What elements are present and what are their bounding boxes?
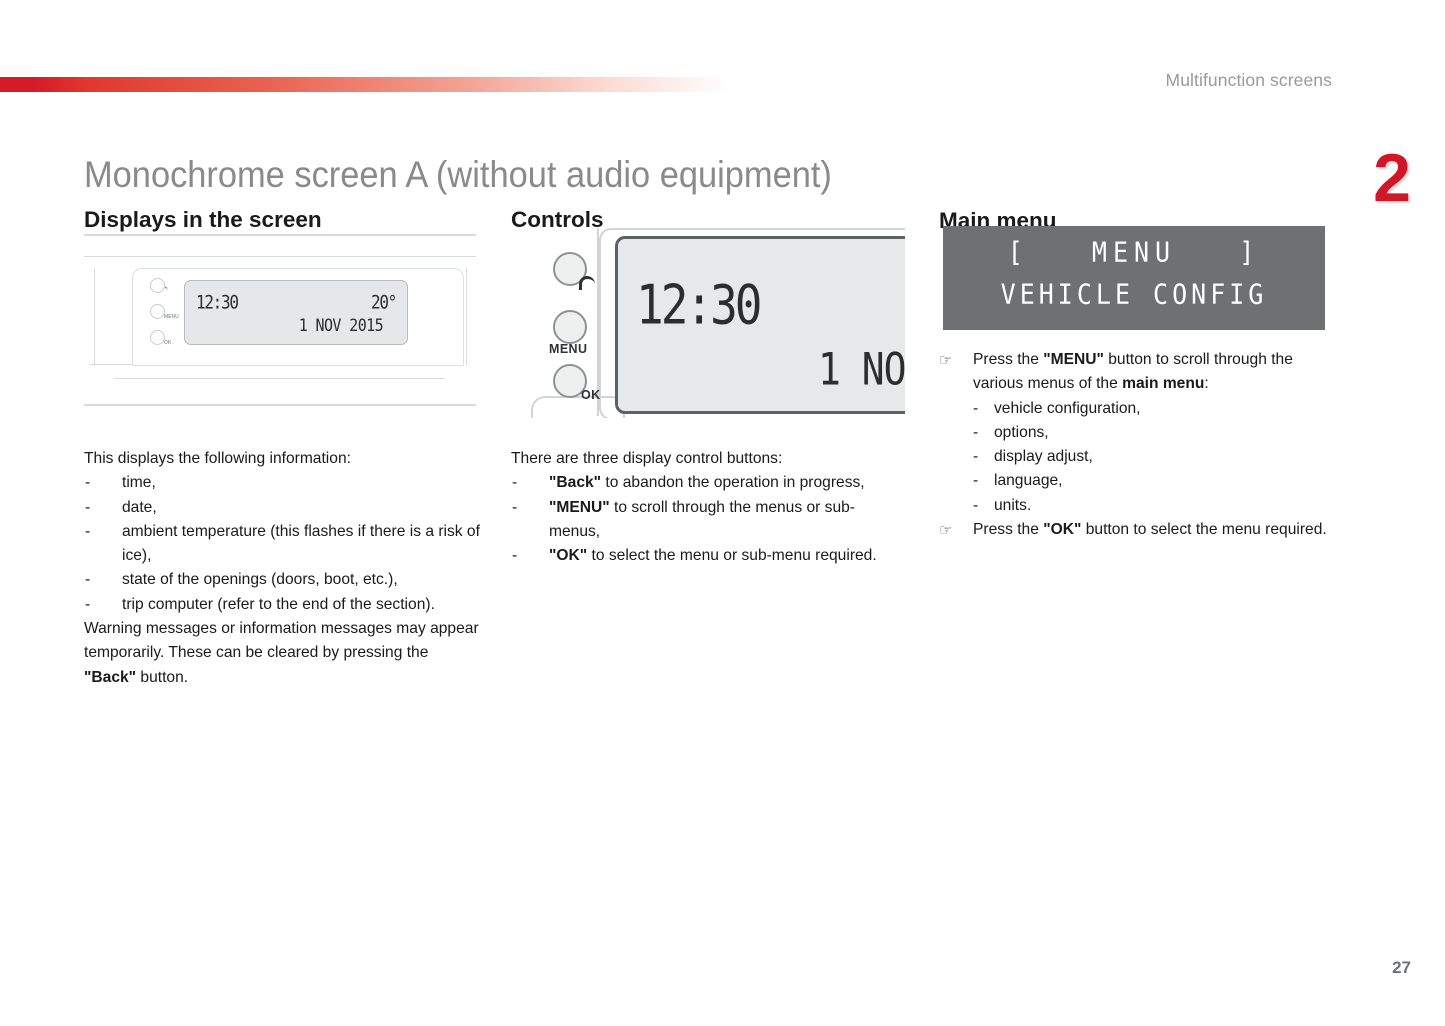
lcd-time: 12:30 <box>196 291 238 313</box>
lcd-time: 12:30 <box>636 273 759 337</box>
dash-marker: - <box>85 568 90 592</box>
menu-button[interactable] <box>150 304 165 319</box>
header-accent-bar <box>0 77 730 92</box>
dash-marker: - <box>85 471 90 495</box>
displays-body-text: This displays the following information:… <box>84 447 484 690</box>
ok-button-label: OK <box>164 340 172 346</box>
step-text-prefix: Press the <box>973 351 1043 368</box>
lcd-date-partial: 1 NO <box>818 343 905 395</box>
list-item: -"MENU" to scroll through the menus or s… <box>511 496 906 545</box>
step-bold-ok: "OK" <box>1043 521 1081 538</box>
dash-marker: - <box>85 593 90 617</box>
displays-intro: This displays the following information: <box>84 447 484 471</box>
list-item: -"OK" to select the menu or sub-menu req… <box>511 544 906 568</box>
controls-item-list: -"Back" to abandon the operation in prog… <box>511 471 906 568</box>
list-item: -vehicle configuration, <box>973 397 1339 421</box>
lcd-date: 1 NOV 2015 <box>299 315 383 336</box>
note-text-before: Warning messages or information messages… <box>84 620 479 661</box>
main-menu-step-list-2: ☞ Press the "OK" button to select the me… <box>939 518 1339 542</box>
list-item-bold: "MENU" <box>549 499 610 516</box>
list-item-label: display adjust, <box>994 448 1093 465</box>
main-menu-lcd-line2: VEHICLE CONFIG <box>943 278 1325 310</box>
pointing-hand-icon: ☞ <box>939 349 952 373</box>
step-text-suffix: : <box>1204 375 1208 392</box>
list-item: -language, <box>973 469 1339 493</box>
back-arrow-icon <box>579 276 595 290</box>
step-bold-menu: "MENU" <box>1043 351 1104 368</box>
menu-button-label: MENU <box>164 314 179 320</box>
list-item: -trip computer (refer to the end of the … <box>84 593 484 617</box>
dash-marker: - <box>973 397 978 421</box>
list-item: -options, <box>973 421 1339 445</box>
page-title: Monochrome screen A (without audio equip… <box>84 153 832 197</box>
figure-dashboard: ↰ MENU OK 12:30 20° 1 NOV 2015 <box>84 228 478 424</box>
dashboard-lcd-screen: 12:30 20° 1 NOV 2015 <box>184 280 408 345</box>
dash-marker: - <box>85 520 90 544</box>
list-item-label: time, <box>122 474 156 491</box>
ok-button-label: OK <box>581 388 601 402</box>
dash-marker: - <box>973 469 978 493</box>
list-item-label: ambient temperature (this flashes if the… <box>122 523 480 564</box>
list-item-label: date, <box>122 499 157 516</box>
pointing-hand-icon: ☞ <box>939 519 952 543</box>
note-back-label: "Back" <box>84 669 136 686</box>
dashboard-button-group: ↰ MENU OK <box>148 278 184 364</box>
dash-marker: - <box>512 544 517 568</box>
dash-marker: - <box>973 494 978 518</box>
controls-body-text: There are three display control buttons:… <box>511 447 906 568</box>
menu-button-label: MENU <box>549 342 587 356</box>
header-title: Multifunction screens <box>1166 70 1332 91</box>
dash-marker: - <box>85 496 90 520</box>
step-bold-main-menu: main menu <box>1122 375 1204 392</box>
list-item: ☞ Press the "MENU" button to scroll thro… <box>939 348 1339 397</box>
note-text-after: button. <box>136 669 188 686</box>
dash-marker: - <box>973 445 978 469</box>
list-item: -units. <box>973 494 1339 518</box>
list-item: -state of the openings (doors, boot, etc… <box>84 568 484 592</box>
main-menu-sub-list: -vehicle configuration, -options, -displ… <box>939 397 1339 518</box>
figure-controls: MENU OK 12:30 1 NO <box>511 228 905 418</box>
step-text-prefix: Press the <box>973 521 1043 538</box>
list-item-label: to select the menu or sub-menu required. <box>587 547 877 564</box>
step-text-middle: button to select the menu required. <box>1081 521 1326 538</box>
list-item: -date, <box>84 496 484 520</box>
list-item: -display adjust, <box>973 445 1339 469</box>
controls-intro: There are three display control buttons: <box>511 447 906 471</box>
list-item-label: to abandon the operation in progress, <box>601 474 865 491</box>
back-button-label: ↰ <box>164 286 168 292</box>
list-item-label: language, <box>994 472 1063 489</box>
main-menu-body-text: ☞ Press the "MENU" button to scroll thro… <box>939 348 1339 542</box>
dash-marker: - <box>512 496 517 520</box>
dash-marker: - <box>512 471 517 495</box>
figure-main-menu-lcd: [ MENU ] VEHICLE CONFIG <box>943 226 1325 330</box>
back-button[interactable] <box>150 278 165 293</box>
page-number: 27 <box>1392 958 1411 978</box>
dash-marker: - <box>973 421 978 445</box>
list-item: -time, <box>84 471 484 495</box>
lcd-temperature: 20° <box>371 291 396 313</box>
list-item-bold: "OK" <box>549 547 587 564</box>
main-menu-lcd-line1: [ MENU ] <box>943 236 1325 268</box>
menu-button[interactable] <box>553 310 587 344</box>
main-menu-step-list: ☞ Press the "MENU" button to scroll thro… <box>939 348 1339 397</box>
control-lcd-screen: 12:30 1 NO <box>615 236 905 414</box>
list-item: -ambient temperature (this flashes if th… <box>84 520 484 569</box>
list-item: ☞ Press the "OK" button to select the me… <box>939 518 1339 542</box>
displays-item-list: -time, -date, -ambient temperature (this… <box>84 471 484 617</box>
list-item-label: state of the openings (doors, boot, etc.… <box>122 571 398 588</box>
list-item-label: units. <box>994 497 1031 514</box>
list-item-label: trip computer (refer to the end of the s… <box>122 596 435 613</box>
ok-button[interactable] <box>150 330 165 345</box>
list-item-label: options, <box>994 424 1049 441</box>
chapter-number: 2 <box>1373 144 1411 212</box>
displays-note: Warning messages or information messages… <box>84 617 484 690</box>
list-item-bold: "Back" <box>549 474 601 491</box>
list-item: -"Back" to abandon the operation in prog… <box>511 471 906 495</box>
list-item-label: vehicle configuration, <box>994 400 1141 417</box>
